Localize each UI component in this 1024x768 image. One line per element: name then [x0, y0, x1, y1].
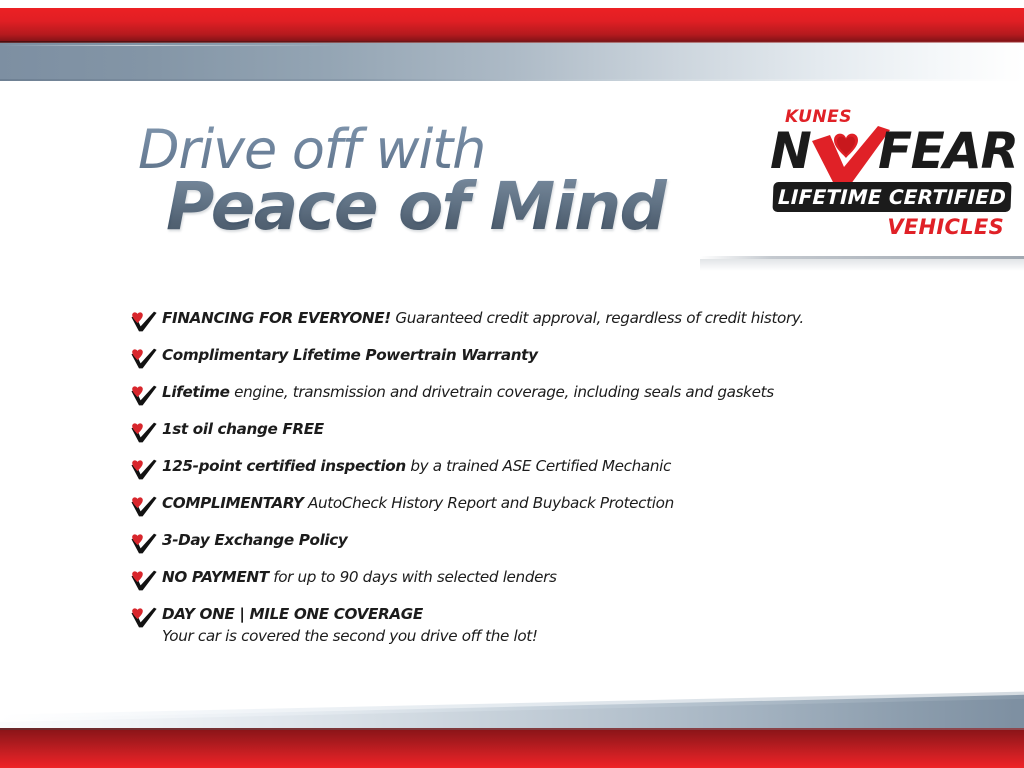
check-heart-bullet-icon	[130, 496, 157, 517]
benefit-text: FINANCING FOR EVERYONE! Guaranteed credi…	[162, 308, 804, 328]
benefit-text: 125-point certified inspection by a trai…	[162, 456, 671, 476]
benefit-text-normal: Guaranteed credit approval, regardless o…	[391, 309, 804, 327]
check-heart-bullet-icon	[130, 385, 157, 406]
benefit-text-stack: Lifetime engine, transmission and drivet…	[162, 382, 774, 402]
benefit-item: 3-Day Exchange Policy	[130, 530, 940, 554]
benefit-text-bold: FINANCING FOR EVERYONE!	[162, 309, 391, 327]
benefit-text-stack: NO PAYMENT for up to 90 days with select…	[162, 567, 557, 587]
logo-word-vehicles: VEHICLES	[887, 216, 1004, 238]
benefit-text: 1st oil change FREE	[162, 419, 324, 439]
top-gray-bar-edge	[0, 79, 1024, 81]
benefit-text: COMPLIMENTARY AutoCheck History Report a…	[162, 493, 674, 513]
benefit-item: NO PAYMENT for up to 90 days with select…	[130, 567, 940, 591]
headline-line-2: Peace of Mind	[166, 172, 718, 242]
benefit-item: DAY ONE | MILE ONE COVERAGEYour car is c…	[130, 604, 940, 646]
top-banner	[0, 0, 1024, 84]
benefit-text-bold: DAY ONE | MILE ONE COVERAGE	[162, 605, 423, 623]
benefits-list: FINANCING FOR EVERYONE! Guaranteed credi…	[130, 308, 940, 646]
logo-nofear-row: N FEAR	[768, 126, 1014, 184]
headline-block: Drive off with Peace of Mind	[138, 122, 718, 242]
benefit-item: 1st oil change FREE	[130, 419, 940, 443]
top-white-sliver	[0, 0, 1024, 8]
benefit-text-normal: for up to 90 days with selected lenders	[269, 568, 557, 586]
promo-page: Drive off with Peace of Mind KUNES N FEA…	[0, 0, 1024, 768]
benefit-text-bold: 3-Day Exchange Policy	[162, 531, 347, 549]
benefit-text-stack: Complimentary Lifetime Powertrain Warran…	[162, 345, 538, 365]
benefit-text-stack: 125-point certified inspection by a trai…	[162, 456, 671, 476]
benefit-text-stack: DAY ONE | MILE ONE COVERAGEYour car is c…	[162, 604, 538, 646]
benefit-text-stack: FINANCING FOR EVERYONE! Guaranteed credi…	[162, 308, 804, 328]
benefit-item: 125-point certified inspection by a trai…	[130, 456, 940, 480]
benefit-item: COMPLIMENTARY AutoCheck History Report a…	[130, 493, 940, 517]
logo-word-fear: FEAR	[878, 126, 1018, 176]
logo-lifetime-certified-text: LIFETIME CERTIFIED	[772, 182, 1011, 212]
benefit-text-stack: 1st oil change FREE	[162, 419, 324, 439]
kunes-no-fear-logo: KUNES N FEAR LIFETIME CERTIFIED VEHICLES	[768, 108, 1014, 244]
check-heart-bullet-icon	[130, 311, 157, 332]
top-gray-bar	[0, 43, 1024, 80]
check-heart-bullet-icon	[130, 607, 157, 628]
benefit-text-bold: Lifetime	[162, 383, 230, 401]
benefit-text: Complimentary Lifetime Powertrain Warran…	[162, 345, 538, 365]
benefit-text-bold: 1st oil change FREE	[162, 420, 324, 438]
header-divider-shadow	[700, 259, 1024, 271]
benefit-item: FINANCING FOR EVERYONE! Guaranteed credi…	[130, 308, 940, 332]
benefit-text-stack: COMPLIMENTARY AutoCheck History Report a…	[162, 493, 674, 513]
check-heart-bullet-icon	[130, 570, 157, 591]
logo-lifetime-certified-bar: LIFETIME CERTIFIED	[772, 182, 1011, 212]
benefit-text: DAY ONE | MILE ONE COVERAGE	[162, 604, 538, 624]
bottom-banner	[0, 690, 1024, 768]
benefit-text: NO PAYMENT for up to 90 days with select…	[162, 567, 557, 587]
check-heart-bullet-icon	[130, 422, 157, 443]
check-heart-bullet-icon	[130, 459, 157, 480]
benefit-text-bold: COMPLIMENTARY	[162, 494, 304, 512]
check-heart-bullet-icon	[130, 533, 157, 554]
benefit-text-bold: Complimentary Lifetime Powertrain Warran…	[162, 346, 538, 364]
benefit-text: Lifetime engine, transmission and drivet…	[162, 382, 774, 402]
benefit-text-stack: 3-Day Exchange Policy	[162, 530, 347, 550]
benefit-subtext: Your car is covered the second you drive…	[162, 626, 538, 646]
benefit-text-normal: by a trained ASE Certified Mechanic	[406, 457, 671, 475]
benefit-item: Complimentary Lifetime Powertrain Warran…	[130, 345, 940, 369]
benefit-text-normal: engine, transmission and drivetrain cove…	[230, 383, 774, 401]
top-gray-bar-highlight	[0, 45, 340, 46]
benefit-text-bold: 125-point certified inspection	[162, 457, 406, 475]
benefit-text-normal: AutoCheck History Report and Buyback Pro…	[304, 494, 674, 512]
check-heart-bullet-icon	[130, 348, 157, 369]
benefit-item: Lifetime engine, transmission and drivet…	[130, 382, 940, 406]
benefit-text: 3-Day Exchange Policy	[162, 530, 347, 550]
top-red-bar	[0, 8, 1024, 42]
bottom-red-bar	[0, 730, 1024, 768]
benefit-text-bold: NO PAYMENT	[162, 568, 269, 586]
